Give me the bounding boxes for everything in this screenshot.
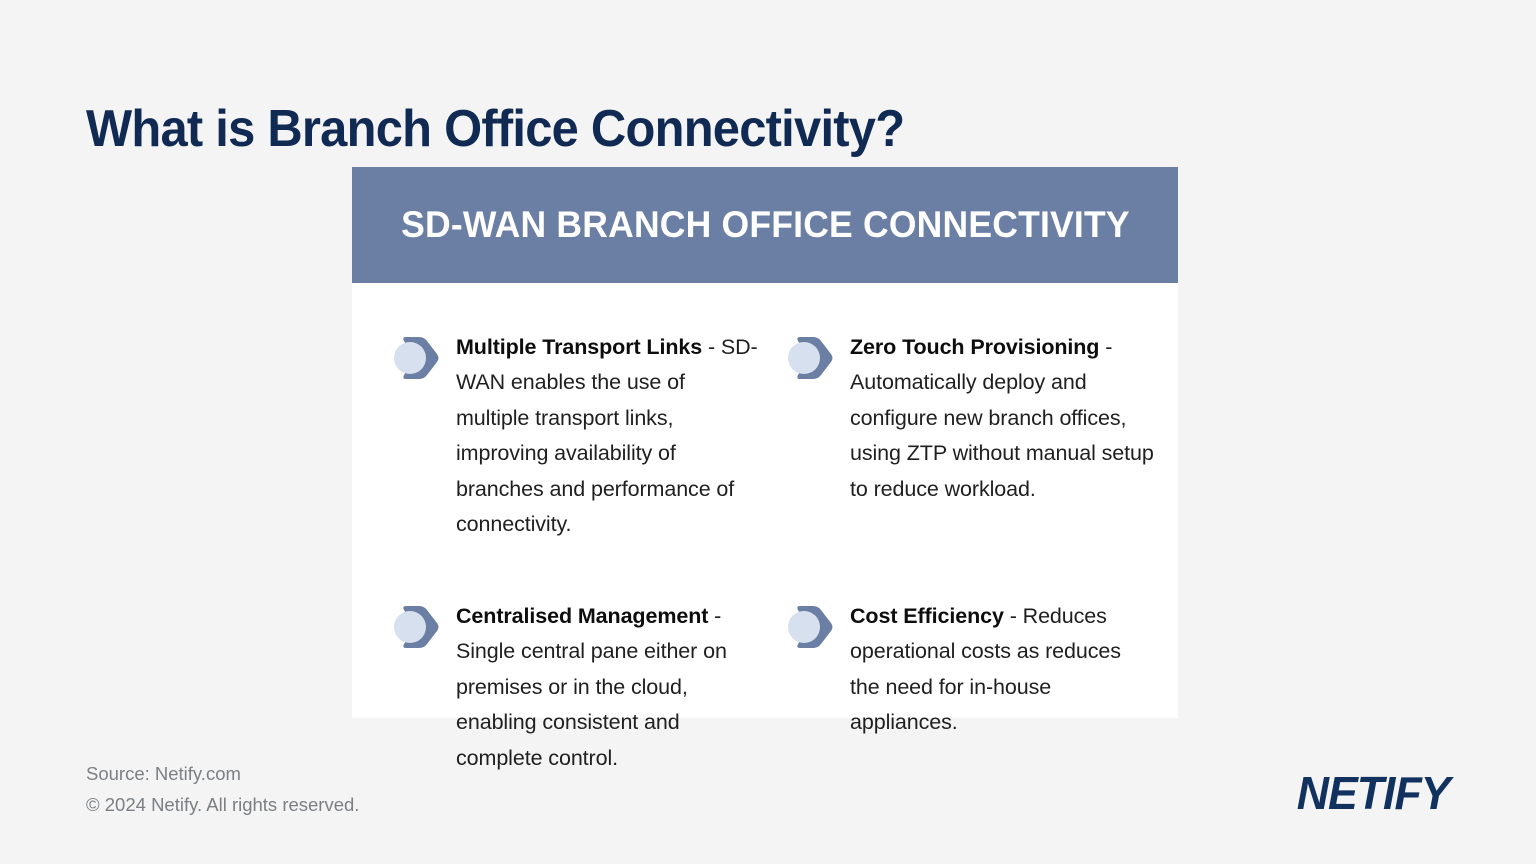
feature-text: Cost Efficiency - Reduces operational co… — [850, 596, 1156, 741]
page-title: What is Branch Office Connectivity? — [86, 97, 904, 161]
feature-separator: - — [708, 604, 721, 628]
feature-term: Cost Efficiency — [850, 604, 1004, 628]
chevron-circle-bullet-icon — [390, 332, 442, 384]
feature-item: Cost Efficiency - Reduces operational co… — [784, 574, 1156, 798]
chevron-circle-bullet-icon — [390, 601, 442, 653]
chevron-circle-bullet-icon — [784, 332, 836, 384]
footer-source: Source: Netify.com — [86, 758, 359, 789]
card-body: Multiple Transport Links - SD-WAN enable… — [352, 283, 1178, 798]
feature-separator: - — [1099, 335, 1112, 359]
netify-logo: NETIFY — [1297, 766, 1450, 820]
feature-term: Zero Touch Provisioning — [850, 335, 1099, 359]
footer: Source: Netify.com © 2024 Netify. All ri… — [86, 758, 359, 820]
feature-description: Automatically deploy and configure new b… — [850, 370, 1154, 501]
feature-description: Single central pane either on premises o… — [456, 639, 727, 770]
feature-item: Centralised Management - Single central … — [390, 574, 762, 798]
feature-description: SD-WAN enables the use of multiple trans… — [456, 335, 758, 537]
feature-item: Zero Touch Provisioning - Automatically … — [784, 305, 1156, 564]
feature-text: Zero Touch Provisioning - Automatically … — [850, 327, 1156, 508]
feature-grid: Multiple Transport Links - SD-WAN enable… — [390, 305, 1156, 798]
feature-item: Multiple Transport Links - SD-WAN enable… — [390, 305, 762, 564]
feature-separator: - — [702, 335, 721, 359]
card-header-title: SD-WAN BRANCH OFFICE CONNECTIVITY — [401, 204, 1130, 246]
chevron-circle-bullet-icon — [784, 601, 836, 653]
feature-text: Centralised Management - Single central … — [456, 596, 762, 777]
card-header: SD-WAN BRANCH OFFICE CONNECTIVITY — [352, 167, 1178, 283]
footer-copyright: © 2024 Netify. All rights reserved. — [86, 789, 359, 820]
feature-term: Multiple Transport Links — [456, 335, 702, 359]
feature-term: Centralised Management — [456, 604, 708, 628]
infographic-card: SD-WAN BRANCH OFFICE CONNECTIVITY Multip… — [352, 167, 1178, 718]
feature-text: Multiple Transport Links - SD-WAN enable… — [456, 327, 762, 543]
feature-separator: - — [1004, 604, 1023, 628]
